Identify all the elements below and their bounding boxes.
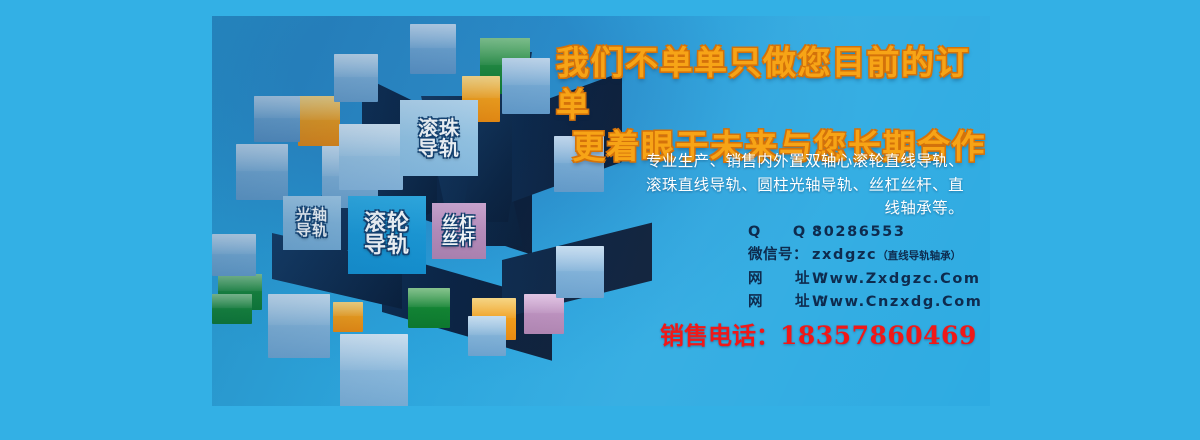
cube-blue [334,54,378,102]
contact-value-qq[interactable]: 80286553 [812,221,906,244]
contact-row-wechat: 微信号： zxdgzc （直线导轨轴承） [748,244,983,267]
contact-block: Q Q： 80286553 微信号： zxdgzc （直线导轨轴承） 网 址： … [748,221,983,315]
description-line-3: 线轴承等。 [630,197,964,221]
cube-blue [339,124,403,190]
cube-blue [468,316,506,356]
cube-orange [333,302,363,332]
product-label-optical-axis-guide[interactable]: 光轴 导轨 [283,196,341,250]
cube-blue [502,58,550,114]
product-label-line1: 滚珠 [418,118,460,138]
contact-row-website-2: 网 址： Www.Cnzxdg.Com [748,291,983,314]
contact-label: Q Q： [748,221,812,244]
contact-row-website-1: 网 址： Www.Zxdgzc.Com [748,268,983,291]
contact-value-wechat[interactable]: zxdgzc [812,244,877,267]
description: 专业生产、销售内外置双轴心滚轮直线导轨、 滚珠直线导轨、圆柱光轴导轨、丝杠丝杆、… [630,150,964,221]
product-label-screw-rod[interactable]: 丝杠 丝杆 [432,203,486,259]
cube-blue [556,246,604,298]
cube-green [212,294,252,324]
cube-cluster-graphic: 滚珠 导轨 光轴 导轨 滚轮 导轨 丝杠 丝杆 [212,16,612,406]
contact-label: 网 址： [748,291,812,314]
contact-row-qq: Q Q： 80286553 [748,221,983,244]
description-line-2: 滚珠直线导轨、圆柱光轴导轨、丝杠丝杆、直 [630,174,964,198]
cube-orange [298,96,340,146]
product-label-line1: 滚轮 [364,213,410,235]
cube-blue [268,294,330,358]
product-label-line2: 导轨 [418,138,460,158]
cube-blue [236,144,288,200]
sales-phone[interactable]: 销售电话：18357860469 [660,316,977,351]
contact-value-website-1[interactable]: Www.Zxdgzc.Com [812,268,981,291]
product-label-line2: 丝杆 [442,231,476,247]
contact-label: 微信号： [748,244,812,267]
contact-note-wechat: （直线导轨轴承） [877,248,961,265]
sales-phone-number[interactable]: 18357860469 [780,321,977,350]
cube-green [408,288,450,328]
cube-blue [212,234,256,276]
contact-label: 网 址： [748,268,812,291]
cube-blue [340,334,408,406]
product-label-roller-guide[interactable]: 滚轮 导轨 [348,196,426,274]
contact-value-website-2[interactable]: Www.Cnzxdg.Com [812,291,983,314]
banner-root: 滚珠 导轨 光轴 导轨 滚轮 导轨 丝杠 丝杆 我们不单单只做您目前的订单 更着… [0,0,1200,440]
product-label-rolling-ball-guide[interactable]: 滚珠 导轨 [400,100,478,176]
cube-blue [254,96,300,142]
sales-phone-label: 销售电话： [660,322,780,350]
product-label-line2: 导轨 [296,223,328,238]
headline-line-1: 我们不单单只做您目前的订单 [556,42,986,126]
description-line-1: 专业生产、销售内外置双轴心滚轮直线导轨、 [630,150,964,174]
product-label-line2: 导轨 [364,235,410,257]
cube-blue [410,24,456,74]
cube-pink [524,294,564,334]
